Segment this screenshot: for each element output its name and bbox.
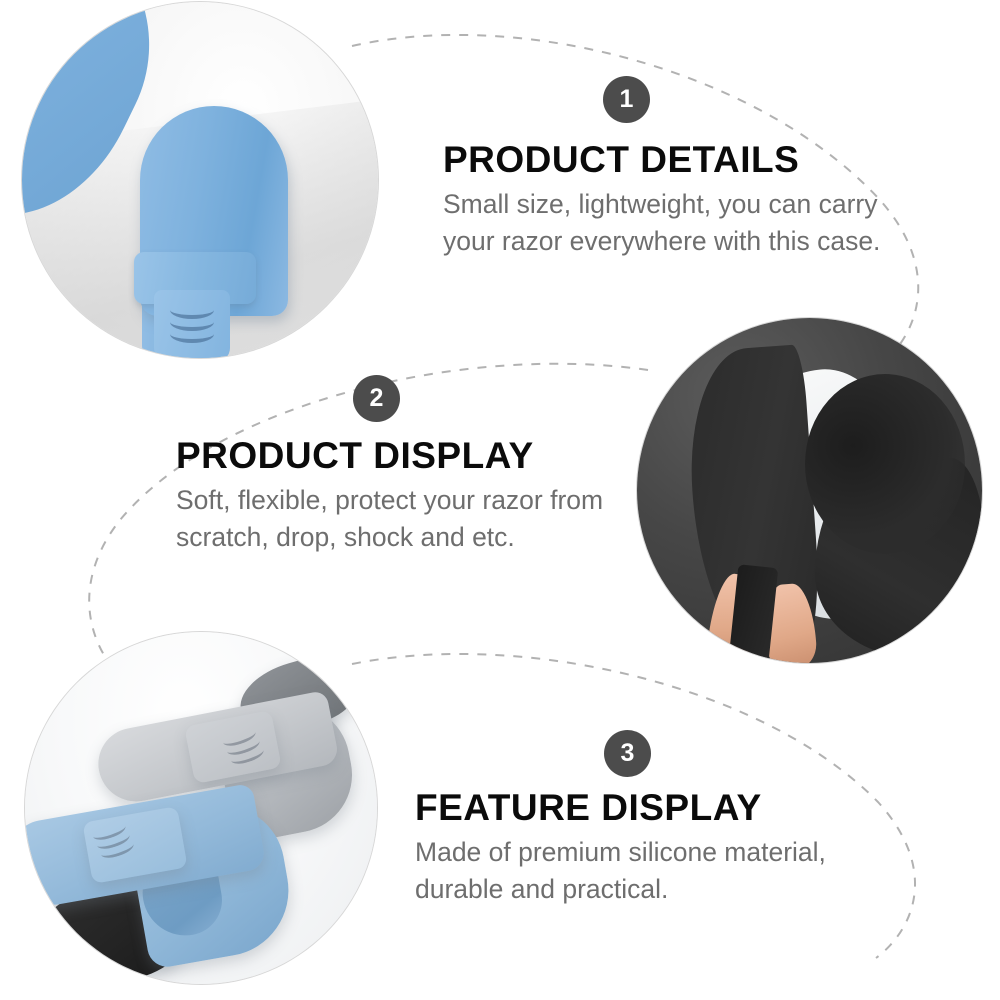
chevron-icon xyxy=(170,322,214,331)
section-1-body: Small size, lightweight, you can carry y… xyxy=(443,186,883,260)
chevron-icon xyxy=(170,334,214,343)
infographic-page: 1 PRODUCT DETAILS Small size, lightweigh… xyxy=(0,0,1000,1000)
section-3-number-badge: 3 xyxy=(604,730,651,777)
product-photo-black-cover-flex-in-fingers xyxy=(637,318,982,663)
section-2-heading: PRODUCT DISPLAY xyxy=(176,435,534,477)
section-1-number-badge: 1 xyxy=(603,76,650,123)
chevron-icon xyxy=(231,754,265,762)
section-2-body: Soft, flexible, protect your razor from … xyxy=(176,482,636,556)
product-photo-three-color-covers-group xyxy=(25,632,377,984)
product-photo-blue-razor-cover-closeup xyxy=(22,2,378,358)
cover-interior-shadow xyxy=(805,374,965,554)
section-2-number-badge: 2 xyxy=(353,375,400,422)
chevron-icon xyxy=(170,310,214,319)
section-3-heading: FEATURE DISPLAY xyxy=(415,787,762,829)
section-1-heading: PRODUCT DETAILS xyxy=(443,139,799,181)
chevron-icon xyxy=(101,848,135,856)
section-3-body: Made of premium silicone material, durab… xyxy=(415,834,885,908)
